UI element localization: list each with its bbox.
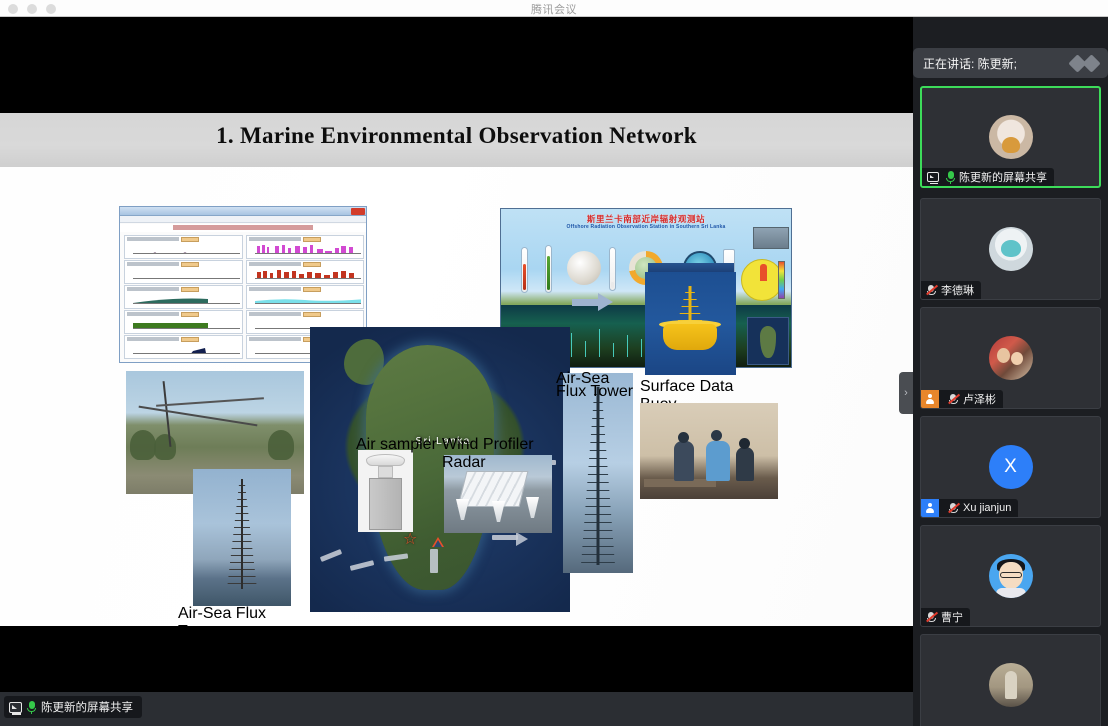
slide-title: 1. Marine Environmental Observation Netw… [0, 123, 913, 149]
participant-name: Xu jianjun [963, 502, 1011, 514]
plot-menubar [120, 216, 366, 223]
participant-tile-partial[interactable] [920, 634, 1101, 726]
plot-panel [124, 310, 243, 334]
plot-panel [246, 260, 365, 284]
active-speaker-toast: 正在讲话: 陈更新; [913, 48, 1108, 78]
meeting-window: 1. Marine Environmental Observation Netw… [0, 17, 1108, 726]
participant-tile-xu-jianjun[interactable]: X Xu jianjun [920, 416, 1101, 518]
window-titlebar: 腾讯会议 [0, 0, 1108, 17]
participant-rail[interactable]: 正在讲话: 陈更新; 陈更新的屏幕共享 李德琳 [913, 17, 1108, 726]
flow-arrow-head [598, 293, 613, 311]
sphere-gauge [567, 251, 601, 285]
participant-nameplate: 曹宁 [921, 608, 970, 626]
station-minimap [747, 317, 789, 365]
screen-share-status-badge: 陈更新的屏幕共享 [4, 696, 142, 718]
plot-heading [120, 224, 366, 232]
participant-name: 陈更新的屏幕共享 [959, 169, 1047, 185]
participant-nameplate: 卢泽彬 [921, 390, 1003, 408]
caption-wind-profiler-radar: Wind Profiler Radar [442, 436, 554, 472]
avatar [989, 554, 1033, 598]
wechat-logo-icon [1071, 57, 1098, 70]
microphone-icon [946, 171, 955, 184]
presentation-slide: 1. Marine Environmental Observation Netw… [0, 113, 913, 626]
map-dash-segment [492, 535, 518, 540]
plot-panel [124, 260, 243, 284]
thermometer-gauge [521, 247, 528, 293]
caption-air-sea-flux-tower-left: Air-Sea Flux Tower [178, 605, 306, 626]
flow-arrow-tail [572, 299, 598, 306]
microphone-muted-icon [948, 502, 959, 515]
active-speaker-label: 正在讲话: 陈更新; [923, 55, 1017, 72]
person-icon [926, 394, 935, 404]
plot-panel [124, 235, 243, 259]
screen-share-icon [9, 702, 22, 713]
participant-nameplate: Xu jianjun [921, 499, 1018, 517]
plot-panel [246, 235, 365, 259]
avatar-glasses [1000, 572, 1022, 578]
avatar-initial: X [1004, 456, 1017, 478]
plot-close-icon [351, 208, 365, 215]
participant-tile-cao-ning[interactable]: 曹宁 [920, 525, 1101, 627]
host-badge-icon [921, 390, 939, 408]
plot-window-titlebar [120, 207, 366, 216]
map-dash-segment [320, 549, 342, 562]
ocean-strip-photo [648, 263, 734, 272]
slide-content: 斯里兰卡南部近岸辐射观测站 Offshore Radiation Observa… [0, 167, 913, 626]
map-marker-triangle [432, 537, 444, 547]
plot-panel [124, 285, 243, 309]
rail-top-spacer [913, 17, 1108, 48]
avatar [989, 227, 1033, 271]
air-sea-flux-tower-photo-mid [563, 373, 633, 573]
avatar [989, 336, 1033, 380]
thermometer-gauge [545, 245, 552, 293]
microphone-muted-icon [926, 284, 937, 297]
plot-panel [246, 285, 365, 309]
caption-air-sea-flux-tower-mid: Air-Sea Flux Tower [556, 372, 640, 398]
window-title: 腾讯会议 [0, 1, 1108, 17]
map-dash-segment [350, 560, 374, 571]
wind-rose-icon [741, 259, 783, 301]
participant-nameplate: 李德琳 [921, 281, 981, 299]
participant-tile-li-delin[interactable]: 李德琳 [920, 198, 1101, 300]
station-photo-inset [753, 227, 789, 249]
meeting-footer: 陈更新的屏幕共享 [0, 692, 913, 726]
participant-name: 卢泽彬 [963, 391, 996, 407]
lab-instrument-photo [640, 403, 778, 499]
participant-nameplate: 陈更新的屏幕共享 [922, 168, 1054, 186]
plot-panel [124, 335, 243, 359]
participant-name: 李德琳 [941, 282, 974, 298]
shared-screen-region[interactable]: 1. Marine Environmental Observation Netw… [0, 17, 913, 692]
surface-data-buoy-photo [645, 272, 736, 375]
wind-rose-widget [741, 259, 785, 303]
station-subtitle: Offshore Radiation Observation Station i… [501, 224, 791, 230]
wind-rose-legend [778, 261, 785, 299]
screen-share-status-label: 陈更新的屏幕共享 [41, 699, 133, 715]
map-dash-segment [430, 549, 438, 573]
screen-share-icon [927, 172, 939, 182]
host-badge-icon [921, 499, 939, 517]
microphone-muted-icon [926, 611, 937, 624]
thermometer-gauge [609, 247, 616, 291]
person-icon [926, 503, 935, 513]
microphone-icon [27, 701, 36, 714]
share-letterbox-bottom [0, 626, 913, 692]
participant-name: 曹宁 [941, 609, 963, 625]
avatar [989, 663, 1033, 707]
collapse-rail-handle[interactable]: › [899, 372, 913, 414]
participant-tile-lu-zebin[interactable]: 卢泽彬 [920, 307, 1101, 409]
avatar-shirt [996, 588, 1026, 598]
participant-tile-chen-gengxin[interactable]: 陈更新的屏幕共享 [920, 86, 1101, 188]
air-sea-flux-tower-photo-left [193, 469, 291, 606]
shared-screen-stage: 1. Marine Environmental Observation Netw… [0, 17, 913, 692]
avatar [989, 115, 1033, 159]
map-marker-star: ☆ [403, 532, 417, 548]
avatar: X [989, 445, 1033, 489]
microphone-muted-icon [948, 393, 959, 406]
air-sampler-photo [358, 450, 413, 532]
